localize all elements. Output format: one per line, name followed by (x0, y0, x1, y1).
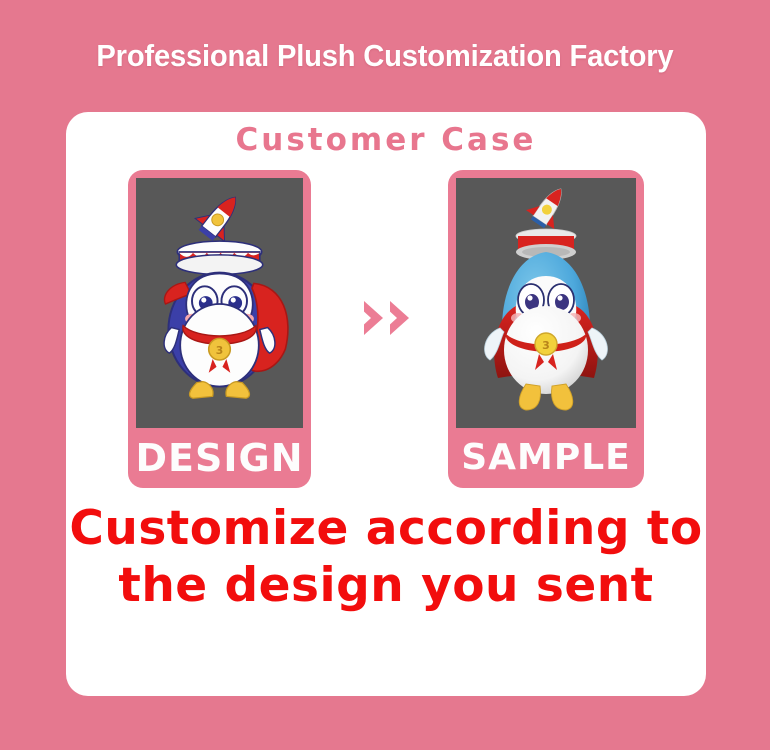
penguin-sample-photo-illustration: 3 (456, 178, 636, 428)
chevron-right-icon-2 (390, 301, 409, 335)
case-label-sample: SAMPLE (456, 428, 636, 488)
medal-number-design: 3 (216, 344, 224, 357)
header-bar: Professional Plush Customization Factory (0, 0, 770, 112)
tagline-line-1: Customize according to (69, 501, 702, 556)
tagline: Customize according to the design you se… (66, 500, 706, 615)
page-title: Professional Plush Customization Factory (96, 38, 673, 74)
case-cards-row: 3 DESIGN (66, 170, 706, 490)
design-image: 3 (136, 178, 303, 428)
sample-image: 3 (456, 178, 636, 428)
penguin-design-illustration: 3 (136, 178, 303, 428)
medal-number-sample: 3 (542, 339, 550, 352)
chevron-right-icon-1 (364, 301, 383, 335)
double-chevron-right-icon (331, 288, 441, 348)
tagline-line-2: the design you sent (66, 557, 706, 614)
case-card-sample[interactable]: 3 SAMPLE (448, 170, 644, 488)
content-panel: Customer Case (66, 112, 706, 696)
case-card-design[interactable]: 3 DESIGN (128, 170, 311, 488)
section-title: Customer Case (66, 122, 706, 158)
case-label-design: DESIGN (136, 428, 303, 488)
